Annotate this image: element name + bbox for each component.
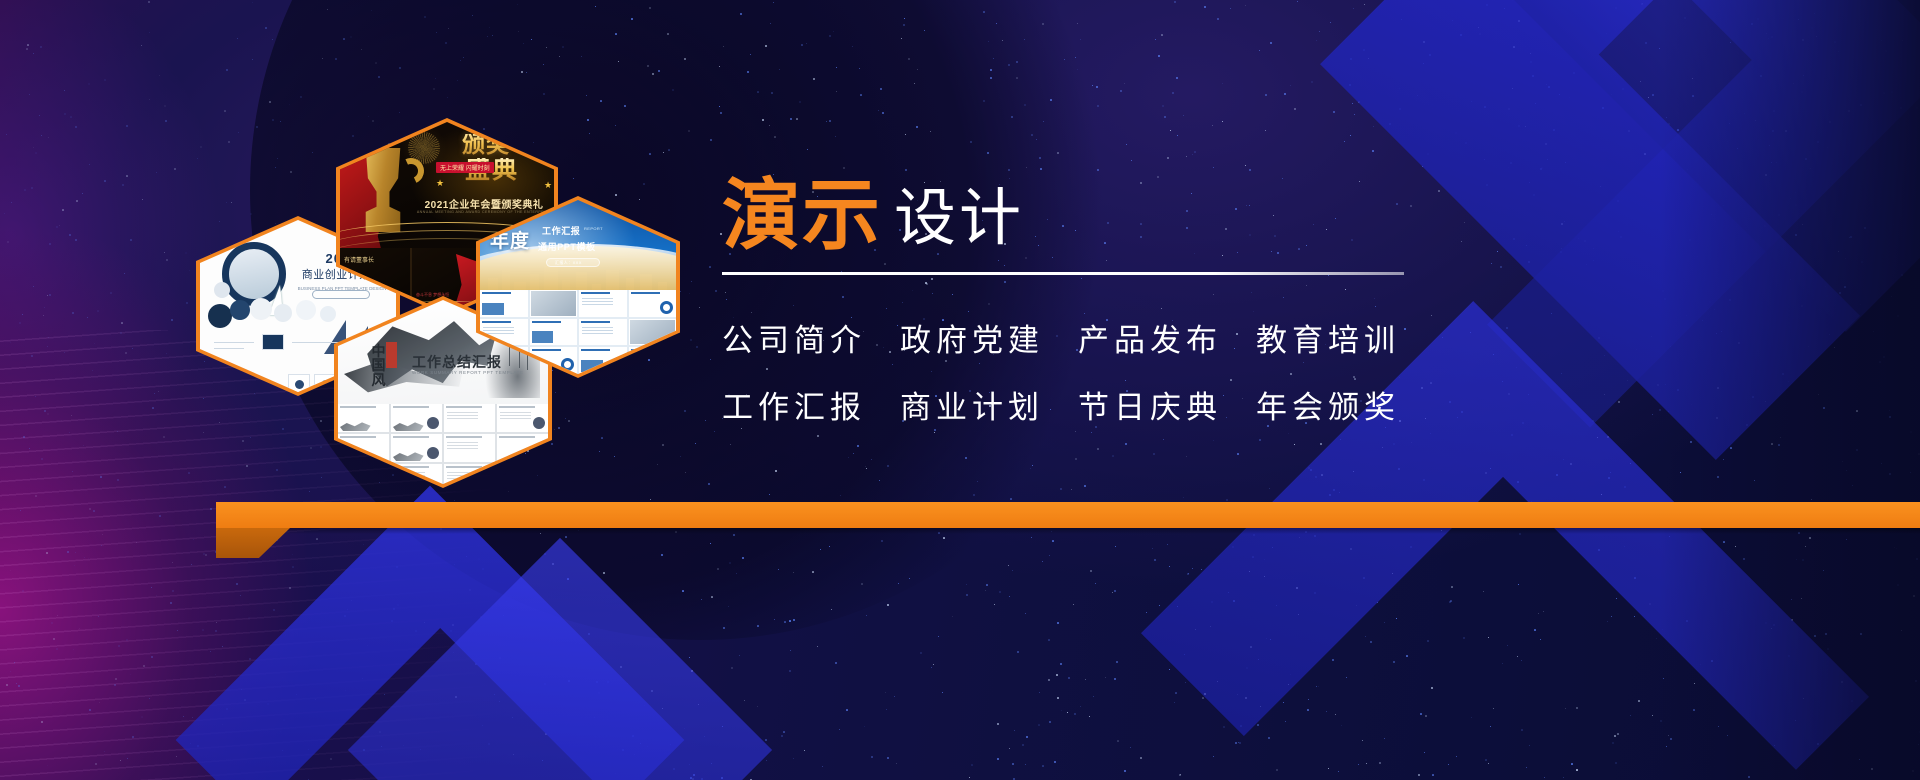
deco-dot	[296, 300, 316, 320]
category-tag[interactable]: 政府党建	[900, 315, 1044, 360]
hex4-author-pill: 汇报人：XXX	[546, 258, 600, 267]
category-tag[interactable]: 工作汇报	[722, 382, 866, 427]
tag-row: 工作汇报商业计划节日庆典年会颁奖	[722, 382, 1422, 427]
slide-thumb	[391, 434, 442, 462]
hex4-author: 汇报人：XXX	[555, 260, 582, 266]
category-tag[interactable]: 产品发布	[1078, 315, 1222, 360]
hex2-title-top: 颁奖	[416, 134, 554, 156]
slide-thumb	[391, 404, 442, 432]
tag-row: 公司简介政府党建产品发布教育培训	[722, 315, 1422, 360]
slide-thumb	[629, 290, 677, 317]
right-edge-fade	[1660, 0, 1920, 780]
headline-block: 演示 设计 公司简介政府党建产品发布教育培训工作汇报商业计划节日庆典年会颁奖	[722, 178, 1422, 449]
hex3-slide-grid	[338, 404, 548, 484]
hex2-subtitle-en: ANNUAL MEETING AND AWARD CEREMONY OF THE…	[406, 210, 554, 214]
sail-ring-graphic	[222, 242, 286, 306]
hex4-line1: 工作汇报	[542, 224, 580, 237]
slide-thumb	[444, 434, 495, 462]
hex3-title: 工作总结汇报	[412, 352, 502, 372]
bottom-orange-bar	[216, 502, 1920, 528]
hex3-subtitle: WORK SUMMARY REPORT PPT TEMPLATE	[412, 370, 524, 375]
deco-dot	[250, 298, 272, 320]
hex4-line1-en: REPORT	[584, 226, 603, 231]
slide-thumb	[497, 434, 548, 462]
slide-thumb	[579, 290, 627, 317]
slide-title: 有请董事长	[344, 255, 374, 264]
category-tag[interactable]: 年会颁奖	[1256, 382, 1400, 427]
slide-thumb	[629, 319, 677, 346]
slide-thumb	[579, 347, 627, 374]
deco-dot	[230, 300, 250, 320]
template-hexagon-cluster: 2020 商业创业计划书 BUSINESS PLAN PPT TEMPLATE …	[0, 0, 700, 520]
slide-thumb	[629, 347, 677, 374]
slide-thumb	[444, 464, 495, 484]
slide-thumb	[480, 290, 528, 317]
slide-thumb	[338, 464, 389, 484]
slide-thumb	[530, 319, 578, 346]
hex2-latin: HONOR	[522, 138, 554, 147]
category-tag[interactable]: 节日庆典	[1078, 382, 1222, 427]
category-tag[interactable]: 教育培训	[1256, 315, 1400, 360]
slide-thumb	[497, 464, 548, 484]
slide-thumb	[497, 404, 548, 432]
title-secondary: 设计	[894, 185, 1024, 254]
slide-thumb	[444, 404, 495, 432]
deco-dot	[214, 282, 230, 298]
slide-thumb	[338, 434, 389, 462]
seal-graphic	[386, 342, 397, 368]
slide-thumb	[391, 464, 442, 484]
title-primary: 演示	[722, 178, 882, 254]
category-tag[interactable]: 公司简介	[722, 315, 866, 360]
hex2-subtitle: 2021企业年会暨颁奖典礼	[406, 196, 554, 211]
category-tag[interactable]: 商业计划	[900, 382, 1044, 427]
bottom-bar-shadow	[216, 528, 1920, 534]
star-icon: ★	[536, 130, 544, 141]
hex2-badge: 无上荣耀 闪耀时刻	[436, 162, 494, 173]
hex4-line2: 通用PPT模板	[538, 240, 596, 253]
banner-canvas: 2020 商业创业计划书 BUSINESS PLAN PPT TEMPLATE …	[0, 0, 1920, 780]
hex3-vertical-text: 中国风	[370, 344, 387, 387]
title-divider	[722, 272, 1404, 275]
slide-thumb	[530, 290, 578, 317]
category-tag-list: 公司简介政府党建产品发布教育培训工作汇报商业计划节日庆典年会颁奖	[722, 315, 1422, 427]
hex1-author-pill	[312, 290, 370, 299]
slide-thumb	[338, 404, 389, 432]
deco-dot	[274, 304, 292, 322]
slide-thumb	[579, 319, 627, 346]
title-row: 演示 设计	[722, 178, 1422, 254]
